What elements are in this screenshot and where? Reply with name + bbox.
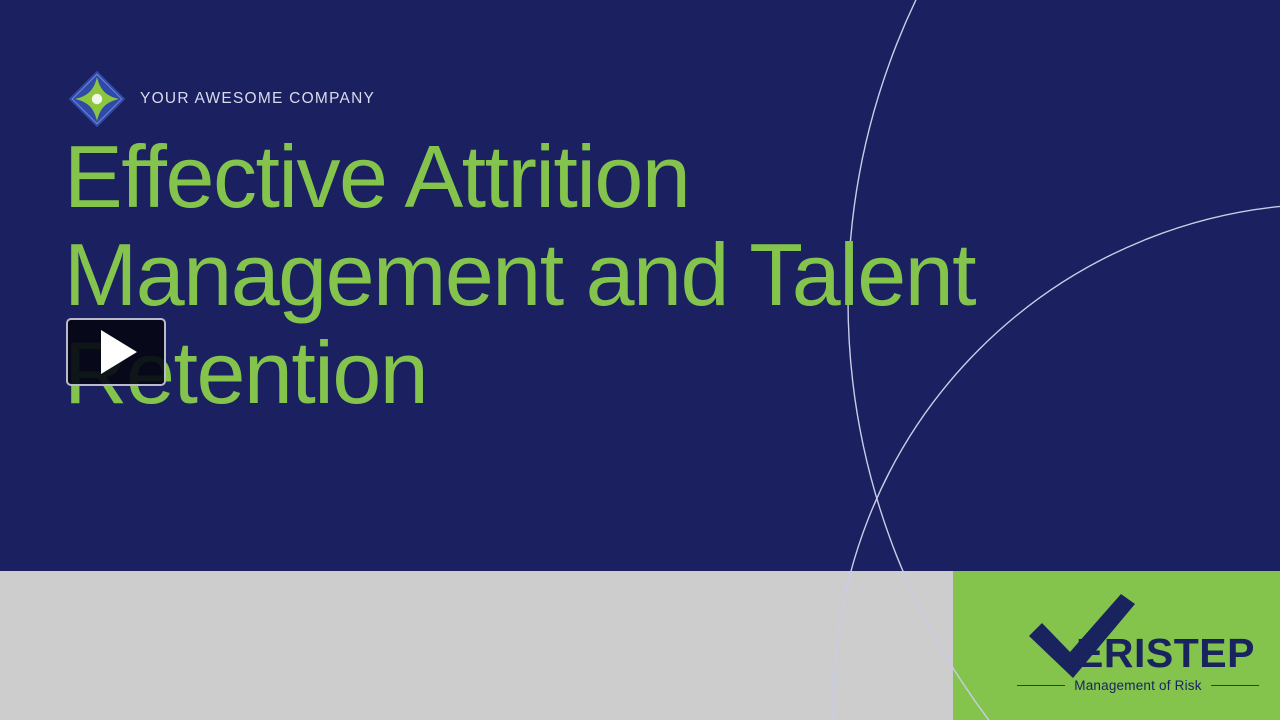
title-line-3: Retention (64, 324, 1074, 422)
play-triangle-icon[interactable] (101, 330, 137, 374)
veristep-logo: ERISTEP Management of Risk (1013, 592, 1263, 700)
title-line-2: Management and Talent (64, 226, 1074, 324)
company-name: YOUR AWESOME COMPANY (140, 90, 375, 108)
brand-row: YOUR AWESOME COMPANY (68, 69, 375, 129)
title-line-1: Effective Attrition (64, 128, 1074, 226)
slide-footer-gray-bar (0, 571, 953, 720)
video-play-button[interactable] (66, 318, 166, 386)
veristep-wordmark: ERISTEP (1076, 633, 1255, 674)
presentation-slide: YOUR AWESOME COMPANY Effective Attrition… (0, 0, 1280, 720)
veristep-tagline: Management of Risk (1013, 678, 1263, 693)
slide-title: Effective Attrition Management and Talen… (64, 128, 1074, 422)
diamond-star-logo-icon (68, 70, 126, 128)
